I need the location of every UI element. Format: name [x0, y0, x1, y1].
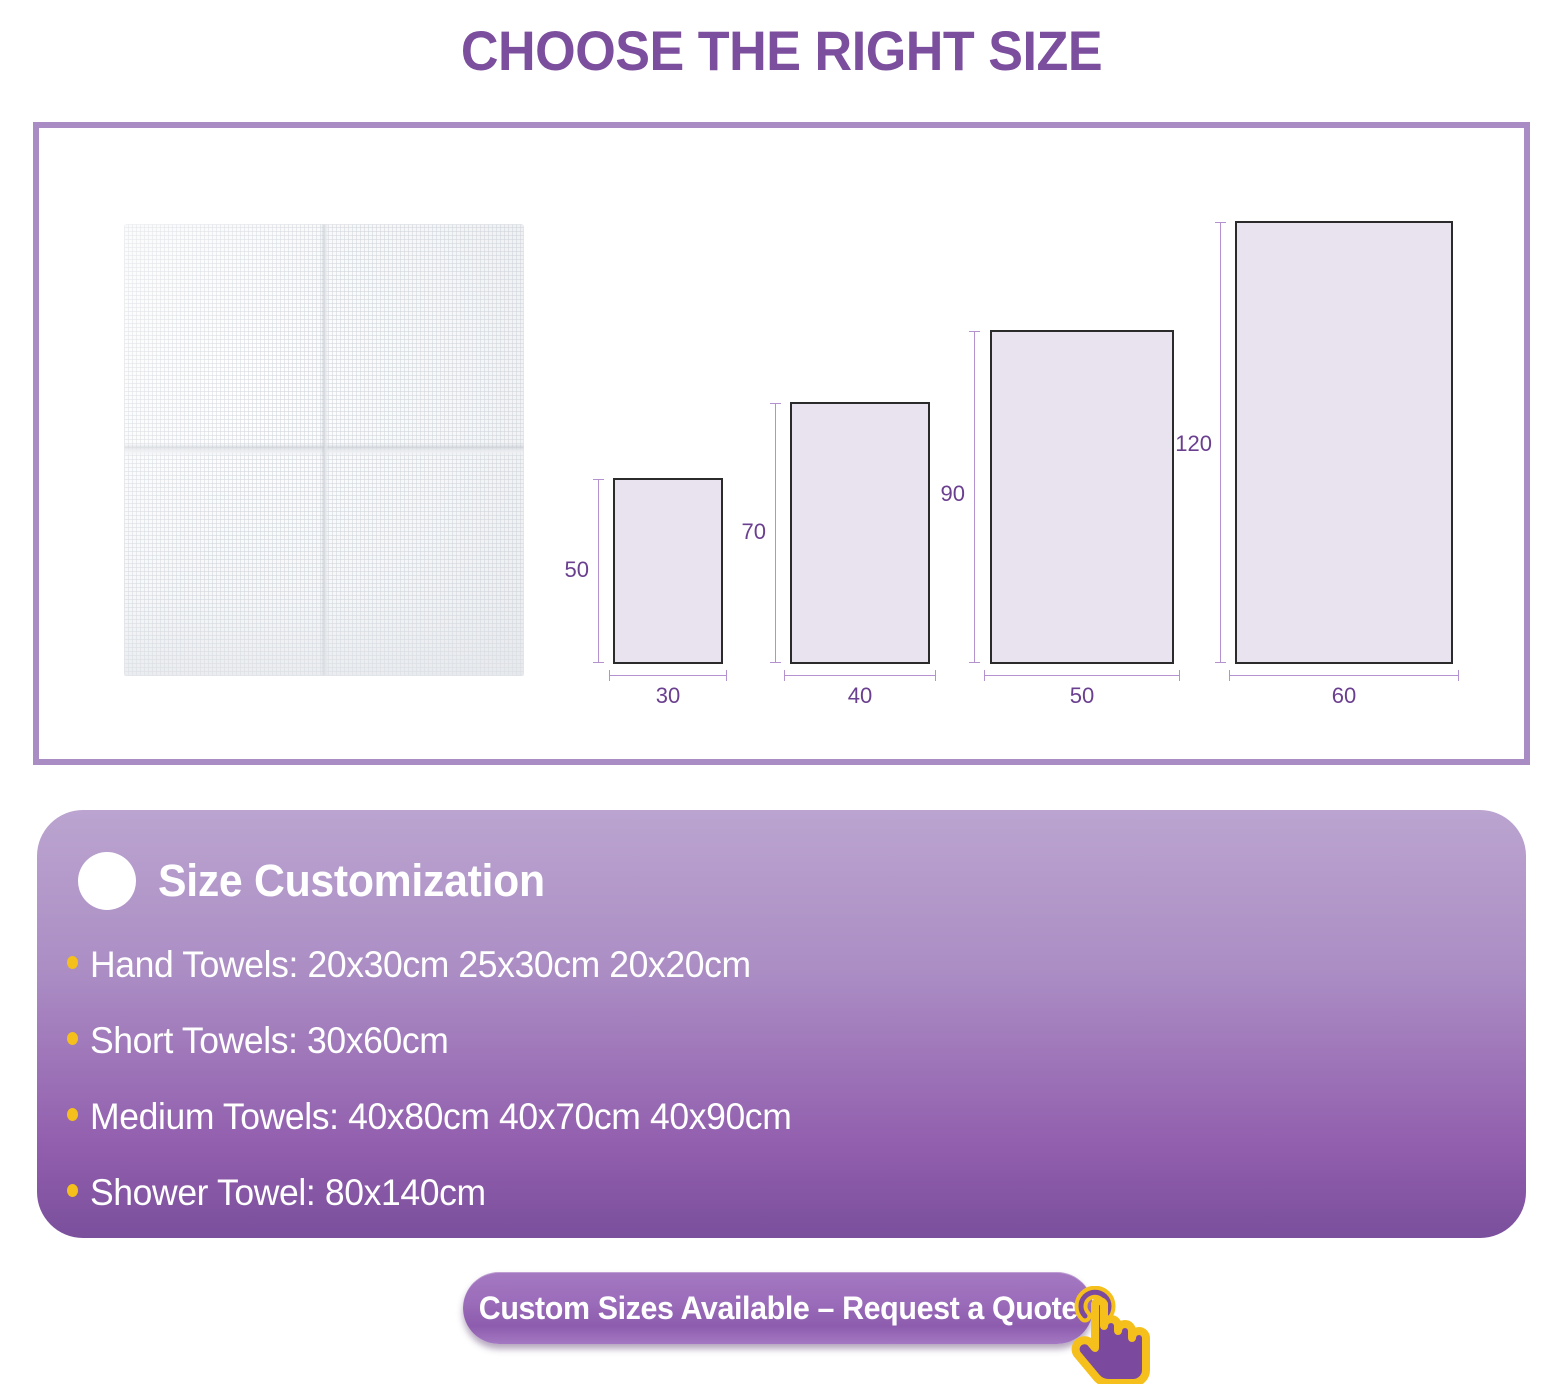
- width-dim-label-30: 30: [609, 683, 727, 709]
- size-rect-30x50: [613, 478, 723, 664]
- cta-area: Custom Sizes Available – Request a Quote: [463, 1272, 1093, 1344]
- height-dim-line-120: [1220, 222, 1221, 663]
- width-dim-line-50: [984, 675, 1180, 676]
- list-item-label: Hand Towels: 20x30cm 25x30cm 20x20cm: [90, 944, 751, 986]
- height-dim-label-70: 70: [734, 519, 766, 545]
- request-quote-button[interactable]: Custom Sizes Available – Request a Quote: [463, 1272, 1093, 1344]
- width-dim-line-30: [609, 675, 727, 676]
- bullet-dot-icon: [67, 1108, 78, 1121]
- folded-white-towel-photo: [124, 224, 524, 676]
- list-item: Hand Towels: 20x30cm 25x30cm 20x20cm: [67, 944, 1497, 994]
- bullet-dot-icon: [67, 1032, 78, 1045]
- bullet-circle-icon: [78, 852, 136, 910]
- height-dim-label-90: 90: [933, 481, 965, 507]
- size-list: Hand Towels: 20x30cm 25x30cm 20x20cm Sho…: [67, 944, 1497, 1248]
- width-dim-label-50: 50: [984, 683, 1180, 709]
- size-rect-40x70: [790, 402, 930, 664]
- bullet-dot-icon: [67, 956, 78, 969]
- list-item: Medium Towels: 40x80cm 40x70cm 40x90cm: [67, 1096, 1497, 1146]
- card-heading-label: Size Customization: [158, 855, 545, 907]
- size-rect-60x120: [1235, 221, 1453, 664]
- height-dim-line-70: [775, 403, 776, 663]
- bullet-dot-icon: [67, 1184, 78, 1197]
- width-dim-line-40: [784, 675, 936, 676]
- list-item-label: Shower Towel: 80x140cm: [90, 1172, 486, 1214]
- height-dim-line-50: [598, 479, 599, 663]
- list-item: Short Towels: 30x60cm: [67, 1020, 1497, 1070]
- size-customization-card: Size Customization Hand Towels: 20x30cm …: [37, 810, 1526, 1238]
- list-item-label: Medium Towels: 40x80cm 40x70cm 40x90cm: [90, 1096, 791, 1138]
- height-dim-line-90: [974, 331, 975, 663]
- size-rect-50x90: [990, 330, 1174, 664]
- list-item: Shower Towel: 80x140cm: [67, 1172, 1497, 1222]
- diagram-frame: 50 30 70 40 90 50 120 60: [33, 122, 1530, 765]
- width-dim-line-60: [1229, 675, 1459, 676]
- card-heading: Size Customization: [78, 852, 565, 910]
- list-item-label: Short Towels: 30x60cm: [90, 1020, 449, 1062]
- page-title: CHOOSE THE RIGHT SIZE: [55, 18, 1509, 83]
- width-dim-label-40: 40: [784, 683, 936, 709]
- width-dim-label-60: 60: [1229, 683, 1459, 709]
- request-quote-label: Custom Sizes Available – Request a Quote: [478, 1290, 1077, 1327]
- height-dim-label-120: 120: [1168, 431, 1212, 457]
- height-dim-label-50: 50: [557, 557, 589, 583]
